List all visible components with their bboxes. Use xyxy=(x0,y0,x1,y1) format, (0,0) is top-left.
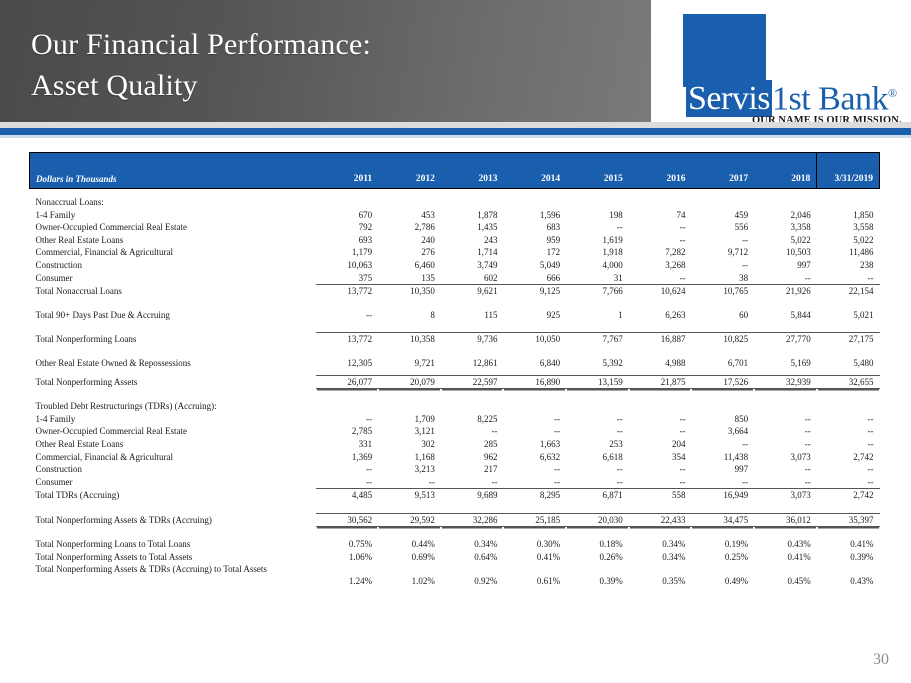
cell-2013: -- xyxy=(441,425,504,438)
row-label: Consumer xyxy=(30,272,316,285)
column-header-3-31-2019: 3/31/2019 xyxy=(817,153,880,189)
empty-cell xyxy=(629,196,692,209)
cell-2015: 5,392 xyxy=(566,357,629,370)
cell-2016: -- xyxy=(629,221,692,234)
cell-2012: 0.69% xyxy=(378,551,441,564)
cell-2015: 1,619 xyxy=(566,234,629,247)
row-other-real-estate-owned: Other Real Estate Owned & Repossessions1… xyxy=(30,357,880,370)
row-spacer xyxy=(30,527,880,539)
cell-3-31-2019: 11,486 xyxy=(817,246,880,259)
row-total-nonperforming-loans: Total Nonperforming Loans13,77210,3589,7… xyxy=(30,333,880,346)
cell-2016: 558 xyxy=(629,489,692,502)
cell-2018: 5,169 xyxy=(754,357,817,370)
table-row: Total TDRs (Accruing)4,4859,5139,6898,29… xyxy=(30,489,880,502)
cell-2012: 1,709 xyxy=(378,413,441,426)
table-row: Owner-Occupied Commercial Real Estate792… xyxy=(30,221,880,234)
spacer-cell xyxy=(30,502,880,514)
cell-2014: 666 xyxy=(503,272,566,285)
table-row: Other Real Estate Loans3313022851,663253… xyxy=(30,438,880,451)
cell-2012: 0.44% xyxy=(378,538,441,551)
cell-2013: 12,861 xyxy=(441,357,504,370)
table-row: Commercial, Financial & Agricultural1,17… xyxy=(30,246,880,259)
cell-2015: 0.39% xyxy=(566,564,629,588)
cell-2015: 6,618 xyxy=(566,451,629,464)
cell-2015: -- xyxy=(566,221,629,234)
cell-2016: 22,433 xyxy=(629,513,692,527)
cell-2018: -- xyxy=(754,438,817,451)
cell-2017: -- xyxy=(691,259,754,272)
cell-2012: 453 xyxy=(378,209,441,222)
row-label: Total 90+ Days Past Due & Accruing xyxy=(30,309,316,322)
empty-cell xyxy=(754,196,817,209)
empty-cell xyxy=(754,400,817,413)
cell-2016: 3,268 xyxy=(629,259,692,272)
cell-2014: 1,663 xyxy=(503,438,566,451)
cell-2017: -- xyxy=(691,234,754,247)
row-label: Other Real Estate Loans xyxy=(30,234,316,247)
row-label: Construction xyxy=(30,259,316,272)
cell-2014: 683 xyxy=(503,221,566,234)
empty-cell xyxy=(441,196,504,209)
cell-2016: 0.35% xyxy=(629,564,692,588)
empty-cell xyxy=(566,196,629,209)
cell-2012: 240 xyxy=(378,234,441,247)
cell-2016: -- xyxy=(629,234,692,247)
cell-2017: 10,825 xyxy=(691,333,754,346)
cell-3-31-2019: 5,480 xyxy=(817,357,880,370)
cell-3-31-2019: 0.43% xyxy=(817,564,880,588)
cell-2018: 36,012 xyxy=(754,513,817,527)
cell-2012: 3,121 xyxy=(378,425,441,438)
row-label: Owner-Occupied Commercial Real Estate xyxy=(30,425,316,438)
row-label: Other Real Estate Loans xyxy=(30,438,316,451)
cell-2018: -- xyxy=(754,463,817,476)
cell-2014: -- xyxy=(503,476,566,489)
table-row: Commercial, Financial & Agricultural1,36… xyxy=(30,451,880,464)
empty-cell xyxy=(817,400,880,413)
cell-2018: 5,844 xyxy=(754,309,817,322)
cell-2015: -- xyxy=(566,425,629,438)
cell-2014: 8,295 xyxy=(503,489,566,502)
cell-2013: 217 xyxy=(441,463,504,476)
row-label: Total Nonperforming Loans to Total Loans xyxy=(30,538,316,551)
cell-2015: 0.26% xyxy=(566,551,629,564)
cell-2013: 0.64% xyxy=(441,551,504,564)
cell-2018: -- xyxy=(754,413,817,426)
cell-2012: 302 xyxy=(378,438,441,451)
table-header-row: Dollars in Thousands20112012201320142015… xyxy=(30,153,880,189)
cell-2018: 21,926 xyxy=(754,285,817,298)
row-ratio-1: Total Nonperforming Assets to Total Asse… xyxy=(30,551,880,564)
cell-2016: 204 xyxy=(629,438,692,451)
cell-2018: 32,939 xyxy=(754,375,817,389)
cell-2012: 6,460 xyxy=(378,259,441,272)
cell-2017: 17,526 xyxy=(691,375,754,389)
cell-2014: 0.61% xyxy=(503,564,566,588)
section-heading-label: Nonaccrual Loans: xyxy=(30,196,316,209)
servisfirst-bank-logo: Servis1st Bank® OUR NAME IS OUR MISSION. xyxy=(672,14,904,126)
empty-cell xyxy=(691,400,754,413)
row-label: Total Nonaccrual Loans xyxy=(30,285,316,298)
cell-2017: 9,712 xyxy=(691,246,754,259)
column-header-2016: 2016 xyxy=(629,153,692,189)
registered-trademark-icon: ® xyxy=(888,86,897,100)
cell-2017: 0.49% xyxy=(691,564,754,588)
cell-2016: 7,282 xyxy=(629,246,692,259)
spacer-cell xyxy=(30,389,880,401)
cell-2013: 243 xyxy=(441,234,504,247)
cell-2013: 602 xyxy=(441,272,504,285)
cell-3-31-2019: 27,175 xyxy=(817,333,880,346)
cell-2016: 0.34% xyxy=(629,551,692,564)
cell-3-31-2019: 5,022 xyxy=(817,234,880,247)
cell-2018: 0.45% xyxy=(754,564,817,588)
page-title-line-2: Asset Quality xyxy=(31,65,371,106)
cell-3-31-2019: 5,021 xyxy=(817,309,880,322)
cell-2013: 9,736 xyxy=(441,333,504,346)
cell-2016: 10,624 xyxy=(629,285,692,298)
asset-quality-table: Dollars in Thousands20112012201320142015… xyxy=(29,152,880,588)
row-ratio-2: Total Nonperforming Assets & TDRs (Accru… xyxy=(30,564,880,588)
spacer-cell xyxy=(30,298,880,309)
column-header-2013: 2013 xyxy=(441,153,504,189)
cell-2016: 16,887 xyxy=(629,333,692,346)
cell-2015: 6,871 xyxy=(566,489,629,502)
cell-2011: -- xyxy=(316,463,379,476)
row-label: Total Nonperforming Assets xyxy=(30,375,316,389)
cell-2014: 9,125 xyxy=(503,285,566,298)
empty-cell xyxy=(566,400,629,413)
row-spacer xyxy=(30,346,880,357)
cell-2015: 4,000 xyxy=(566,259,629,272)
row-label: Total Nonperforming Assets & TDRs (Accru… xyxy=(30,513,316,527)
table-row: 1-4 Family--1,7098,225------850---- xyxy=(30,413,880,426)
cell-2011: 0.75% xyxy=(316,538,379,551)
cell-2018: 2,046 xyxy=(754,209,817,222)
cell-2014: 1,596 xyxy=(503,209,566,222)
row-label: Total Nonperforming Assets & TDRs (Accru… xyxy=(30,564,316,588)
table-row: Consumer------------------ xyxy=(30,476,880,489)
cell-2013: 0.34% xyxy=(441,538,504,551)
cell-2013: 1,435 xyxy=(441,221,504,234)
page-title-line-1: Our Financial Performance: xyxy=(31,24,371,65)
row-spacer xyxy=(30,321,880,333)
column-header-2011: 2011 xyxy=(316,153,379,189)
table-row: Construction--3,213217------997---- xyxy=(30,463,880,476)
cell-2015: 1 xyxy=(566,309,629,322)
row-label: Owner-Occupied Commercial Real Estate xyxy=(30,221,316,234)
table-row: Other Real Estate Loans6932402439591,619… xyxy=(30,234,880,247)
cell-3-31-2019: 2,742 xyxy=(817,451,880,464)
row-spacer xyxy=(30,298,880,309)
cell-2012: 2,786 xyxy=(378,221,441,234)
cell-2016: -- xyxy=(629,272,692,285)
cell-2013: 1,878 xyxy=(441,209,504,222)
cell-3-31-2019: 3,558 xyxy=(817,221,880,234)
cell-2013: -- xyxy=(441,476,504,489)
cell-2017: 459 xyxy=(691,209,754,222)
column-header-2012: 2012 xyxy=(378,153,441,189)
row-total-90-days-past-due: Total 90+ Days Past Due & Accruing--8115… xyxy=(30,309,880,322)
cell-2014: 0.41% xyxy=(503,551,566,564)
cell-2015: -- xyxy=(566,476,629,489)
cell-2012: 20,079 xyxy=(378,375,441,389)
cell-2012: 10,358 xyxy=(378,333,441,346)
row-label: Consumer xyxy=(30,476,316,489)
cell-2013: 962 xyxy=(441,451,504,464)
table-row: Total Nonaccrual Loans13,77210,3509,6219… xyxy=(30,285,880,298)
cell-2012: 135 xyxy=(378,272,441,285)
empty-cell xyxy=(316,400,379,413)
empty-cell xyxy=(503,196,566,209)
cell-2011: 1.24% xyxy=(316,564,379,588)
spacer-cell xyxy=(30,321,880,333)
cell-2014: 10,050 xyxy=(503,333,566,346)
empty-cell xyxy=(378,196,441,209)
empty-cell xyxy=(316,196,379,209)
cell-2017: 3,664 xyxy=(691,425,754,438)
cell-2012: 1,168 xyxy=(378,451,441,464)
cell-2017: 60 xyxy=(691,309,754,322)
cell-2011: 1.06% xyxy=(316,551,379,564)
cell-2013: 1,714 xyxy=(441,246,504,259)
column-header-2014: 2014 xyxy=(503,153,566,189)
cell-2012: 9,721 xyxy=(378,357,441,370)
cell-2011: -- xyxy=(316,413,379,426)
cell-2017: 556 xyxy=(691,221,754,234)
cell-2011: 670 xyxy=(316,209,379,222)
cell-2013: 22,597 xyxy=(441,375,504,389)
cell-2017: -- xyxy=(691,476,754,489)
cell-2014: 25,185 xyxy=(503,513,566,527)
cell-3-31-2019: 35,397 xyxy=(817,513,880,527)
cell-2012: 1.02% xyxy=(378,564,441,588)
cell-3-31-2019: 2,742 xyxy=(817,489,880,502)
row-spacer xyxy=(30,189,880,197)
cell-3-31-2019: -- xyxy=(817,272,880,285)
cell-2014: -- xyxy=(503,463,566,476)
cell-2016: 21,875 xyxy=(629,375,692,389)
cell-2013: 9,689 xyxy=(441,489,504,502)
cell-3-31-2019: -- xyxy=(817,476,880,489)
cell-2013: 115 xyxy=(441,309,504,322)
cell-2015: 198 xyxy=(566,209,629,222)
row-ratio-0: Total Nonperforming Loans to Total Loans… xyxy=(30,538,880,551)
row-total-npa-and-tdrs: Total Nonperforming Assets & TDRs (Accru… xyxy=(30,513,880,527)
row-label: Commercial, Financial & Agricultural xyxy=(30,246,316,259)
section-heading-label: Troubled Debt Restructurings (TDRs) (Acc… xyxy=(30,400,316,413)
cell-2013: 8,225 xyxy=(441,413,504,426)
cell-2017: 10,765 xyxy=(691,285,754,298)
table-row: 1-4 Family6704531,8781,596198744592,0461… xyxy=(30,209,880,222)
row-total-nonperforming-assets: Total Nonperforming Assets26,07720,07922… xyxy=(30,375,880,389)
cell-2014: 6,840 xyxy=(503,357,566,370)
table-row: Owner-Occupied Commercial Real Estate2,7… xyxy=(30,425,880,438)
row-label: Total TDRs (Accruing) xyxy=(30,489,316,502)
cell-2014: 6,632 xyxy=(503,451,566,464)
empty-cell xyxy=(817,196,880,209)
cell-2011: 331 xyxy=(316,438,379,451)
cell-2015: 20,030 xyxy=(566,513,629,527)
section-heading-row: Nonaccrual Loans: xyxy=(30,196,880,209)
column-header-2018: 2018 xyxy=(754,153,817,189)
cell-2014: 172 xyxy=(503,246,566,259)
cell-2015: 31 xyxy=(566,272,629,285)
logo-wordmark: Servis1st Bank® xyxy=(686,76,897,116)
cell-2018: -- xyxy=(754,272,817,285)
cell-2012: 8 xyxy=(378,309,441,322)
cell-2015: 7,766 xyxy=(566,285,629,298)
cell-2013: 3,749 xyxy=(441,259,504,272)
cell-2017: 0.25% xyxy=(691,551,754,564)
asset-quality-table-container: Dollars in Thousands20112012201320142015… xyxy=(29,152,880,588)
cell-2015: 253 xyxy=(566,438,629,451)
cell-3-31-2019: -- xyxy=(817,413,880,426)
row-spacer xyxy=(30,502,880,514)
cell-2017: 34,475 xyxy=(691,513,754,527)
cell-2015: 0.18% xyxy=(566,538,629,551)
cell-2014: -- xyxy=(503,425,566,438)
cell-2011: 12,305 xyxy=(316,357,379,370)
cell-3-31-2019: 32,655 xyxy=(817,375,880,389)
column-header-2017: 2017 xyxy=(691,153,754,189)
slide-page-number: 30 xyxy=(873,651,889,669)
cell-2018: -- xyxy=(754,425,817,438)
row-label: Commercial, Financial & Agricultural xyxy=(30,451,316,464)
spacer-cell xyxy=(30,346,880,357)
cell-3-31-2019: -- xyxy=(817,425,880,438)
cell-2012: -- xyxy=(378,476,441,489)
cell-2018: 0.41% xyxy=(754,551,817,564)
cell-2011: 792 xyxy=(316,221,379,234)
cell-2014: 925 xyxy=(503,309,566,322)
row-label: Construction xyxy=(30,463,316,476)
cell-2013: 32,286 xyxy=(441,513,504,527)
cell-2015: -- xyxy=(566,463,629,476)
column-header-2015: 2015 xyxy=(566,153,629,189)
section-heading-row: Troubled Debt Restructurings (TDRs) (Acc… xyxy=(30,400,880,413)
cell-2015: 13,159 xyxy=(566,375,629,389)
cell-2013: 285 xyxy=(441,438,504,451)
cell-2011: 4,485 xyxy=(316,489,379,502)
cell-2011: 26,077 xyxy=(316,375,379,389)
row-label: Total Nonperforming Loans xyxy=(30,333,316,346)
empty-cell xyxy=(629,400,692,413)
cell-2015: 7,767 xyxy=(566,333,629,346)
cell-3-31-2019: 0.41% xyxy=(817,538,880,551)
cell-2018: 27,770 xyxy=(754,333,817,346)
table-row: Consumer37513560266631--38---- xyxy=(30,272,880,285)
cell-2018: 10,503 xyxy=(754,246,817,259)
row-label: Total Nonperforming Assets to Total Asse… xyxy=(30,551,316,564)
cell-2012: 9,513 xyxy=(378,489,441,502)
cell-2013: 0.92% xyxy=(441,564,504,588)
divider-pale-blue xyxy=(0,135,911,138)
cell-2017: 11,438 xyxy=(691,451,754,464)
cell-2016: 0.34% xyxy=(629,538,692,551)
divider-blue-accent xyxy=(0,128,911,135)
cell-2011: -- xyxy=(316,476,379,489)
spacer-cell xyxy=(30,527,880,539)
cell-2011: -- xyxy=(316,309,379,322)
cell-2015: 1,918 xyxy=(566,246,629,259)
cell-2018: 3,073 xyxy=(754,489,817,502)
cell-2014: 16,890 xyxy=(503,375,566,389)
spacer-cell xyxy=(30,189,880,197)
cell-2018: -- xyxy=(754,476,817,489)
table-header-units-label: Dollars in Thousands xyxy=(30,153,316,189)
cell-3-31-2019: 22,154 xyxy=(817,285,880,298)
row-label: 1-4 Family xyxy=(30,209,316,222)
cell-3-31-2019: -- xyxy=(817,438,880,451)
cell-2014: -- xyxy=(503,413,566,426)
cell-3-31-2019: 0.39% xyxy=(817,551,880,564)
cell-3-31-2019: 1,850 xyxy=(817,209,880,222)
cell-2011: 2,785 xyxy=(316,425,379,438)
cell-2017: -- xyxy=(691,438,754,451)
cell-2011: 13,772 xyxy=(316,285,379,298)
cell-2011: 1,369 xyxy=(316,451,379,464)
logo-1stbank-text: 1st Bank xyxy=(772,80,888,117)
cell-3-31-2019: -- xyxy=(817,463,880,476)
table-row: Construction10,0636,4603,7495,0494,0003,… xyxy=(30,259,880,272)
cell-2011: 30,562 xyxy=(316,513,379,527)
cell-2011: 13,772 xyxy=(316,333,379,346)
cell-2016: -- xyxy=(629,413,692,426)
cell-2016: -- xyxy=(629,476,692,489)
row-label: Other Real Estate Owned & Repossessions xyxy=(30,357,316,370)
cell-2017: 6,701 xyxy=(691,357,754,370)
cell-2017: 997 xyxy=(691,463,754,476)
cell-3-31-2019: 238 xyxy=(817,259,880,272)
cell-2012: 276 xyxy=(378,246,441,259)
cell-2017: 850 xyxy=(691,413,754,426)
cell-2016: -- xyxy=(629,425,692,438)
cell-2012: 29,592 xyxy=(378,513,441,527)
empty-cell xyxy=(378,400,441,413)
cell-2014: 0.30% xyxy=(503,538,566,551)
cell-2018: 0.43% xyxy=(754,538,817,551)
page-title: Our Financial Performance: Asset Quality xyxy=(31,24,371,106)
cell-2014: 959 xyxy=(503,234,566,247)
cell-2012: 10,350 xyxy=(378,285,441,298)
cell-2016: 4,988 xyxy=(629,357,692,370)
cell-2012: 3,213 xyxy=(378,463,441,476)
cell-2018: 5,022 xyxy=(754,234,817,247)
cell-2011: 693 xyxy=(316,234,379,247)
cell-2017: 38 xyxy=(691,272,754,285)
cell-2016: 354 xyxy=(629,451,692,464)
cell-2015: -- xyxy=(566,413,629,426)
cell-2016: -- xyxy=(629,463,692,476)
empty-cell xyxy=(691,196,754,209)
empty-cell xyxy=(441,400,504,413)
cell-2013: 9,621 xyxy=(441,285,504,298)
cell-2016: 6,263 xyxy=(629,309,692,322)
cell-2011: 1,179 xyxy=(316,246,379,259)
cell-2018: 3,073 xyxy=(754,451,817,464)
cell-2014: 5,049 xyxy=(503,259,566,272)
row-spacer xyxy=(30,389,880,401)
row-label: 1-4 Family xyxy=(30,413,316,426)
logo-servis-text: Servis xyxy=(686,80,772,117)
cell-2011: 375 xyxy=(316,272,379,285)
cell-2018: 3,358 xyxy=(754,221,817,234)
cell-2017: 0.19% xyxy=(691,538,754,551)
cell-2018: 997 xyxy=(754,259,817,272)
empty-cell xyxy=(503,400,566,413)
cell-2017: 16,949 xyxy=(691,489,754,502)
